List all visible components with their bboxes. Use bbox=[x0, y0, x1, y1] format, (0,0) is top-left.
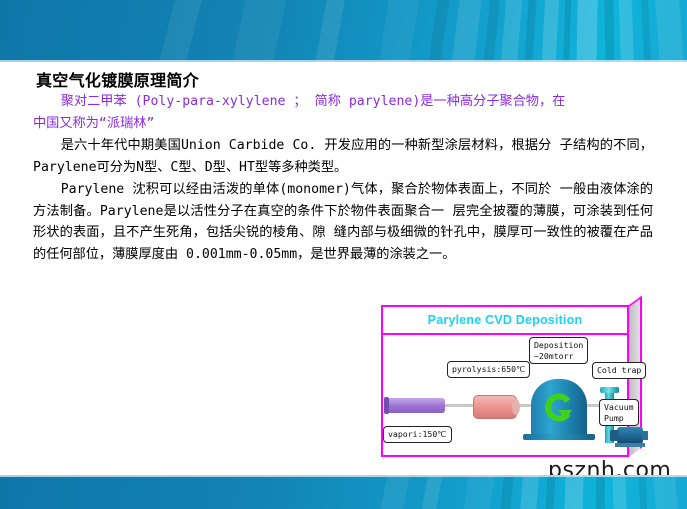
page-title: 真空气化镀膜原理简介 bbox=[36, 67, 199, 91]
vaporizer-unit bbox=[387, 398, 445, 413]
circulation-arrow-icon bbox=[544, 393, 574, 423]
paragraph-1-line-2: 中国又称为“派瑞林” bbox=[33, 116, 154, 131]
diagram-stage: vapori:150℃ pyrolysis:650℃ Deposition ~2… bbox=[381, 335, 629, 457]
paragraph-1: 聚对二甲苯 (Poly-para-xylylene ； 简称 parylene)… bbox=[33, 91, 653, 134]
vacuum-pump-inlet bbox=[610, 430, 619, 441]
label-vacuum-pump: Vacuum Pump bbox=[599, 399, 639, 426]
label-cold-trap: Cold trap bbox=[592, 362, 646, 379]
vaporizer-end-cap bbox=[384, 397, 389, 414]
band-rays-bottom bbox=[0, 475, 687, 509]
top-decorative-band bbox=[0, 0, 687, 62]
paragraph-3: Parylene 沈积可以经由活泼的单体(monomer)气体，聚合於物体表面上… bbox=[33, 179, 653, 265]
diagram-banner-title: Parylene CVD Deposition bbox=[381, 305, 629, 335]
band-hairline-bottom bbox=[0, 475, 687, 477]
paragraph-2: 是六十年代中期美国Union Carbide Co. 开发应用的一种新型涂层材料… bbox=[33, 135, 653, 178]
label-pyrolysis: pyrolysis:650℃ bbox=[447, 361, 530, 378]
body-text: 聚对二甲苯 (Poly-para-xylylene ； 简称 parylene)… bbox=[33, 91, 653, 266]
paragraph-3-line-5: 0.001mm-0.05mm，是世界最薄的涂装之一。 bbox=[186, 247, 455, 262]
label-vaporizer: vapori:150℃ bbox=[383, 426, 452, 443]
vacuum-pump-motor bbox=[642, 431, 648, 440]
paragraph-1-line-1: 聚对二甲苯 (Poly-para-xylylene ； 简称 parylene)… bbox=[61, 94, 566, 109]
vacuum-pump-base bbox=[615, 443, 645, 447]
label-deposition: Deposition ~20mtorr bbox=[529, 337, 588, 364]
bottom-decorative-band bbox=[0, 475, 687, 509]
band-hairline bbox=[0, 60, 687, 62]
paragraph-2-line-1: 是六十年代中期美国Union Carbide Co. 开发应用的一种新型涂层材料… bbox=[61, 138, 552, 153]
band-rays bbox=[0, 0, 687, 62]
deposition-chamber-base bbox=[523, 434, 595, 440]
cvd-process-diagram: Parylene CVD Deposition vapo bbox=[381, 297, 651, 460]
pyrolysis-furnace bbox=[473, 395, 517, 419]
paragraph-3-line-1: Parylene 沈积可以经由活泼的单体(monomer)气体，聚合於物体表面上… bbox=[61, 182, 552, 197]
cold-trap-cap bbox=[600, 387, 619, 393]
vacuum-pump-body bbox=[617, 427, 643, 444]
slide-canvas: 真空气化镀膜原理简介 聚对二甲苯 (Poly-para-xylylene ； 简… bbox=[0, 0, 687, 509]
